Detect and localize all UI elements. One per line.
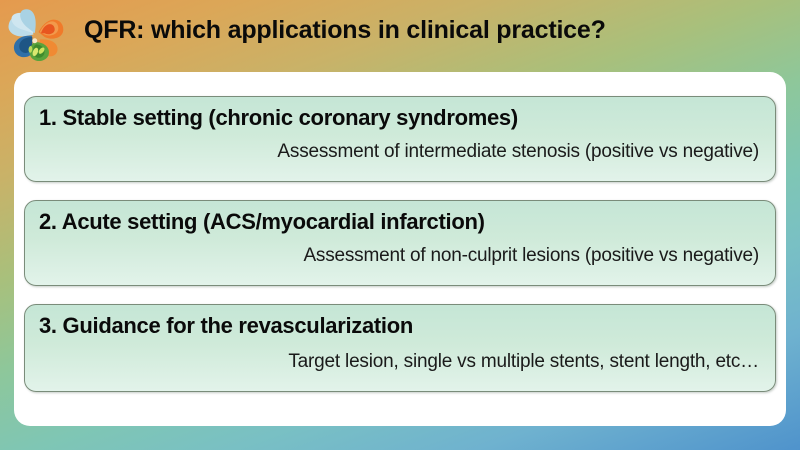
item-detail: Assessment of non-culprit lesions (posit… — [25, 245, 759, 267]
item-detail: Target lesion, single vs multiple stents… — [25, 351, 759, 373]
item-detail: Assessment of intermediate stenosis (pos… — [25, 141, 759, 163]
content-card: 1. Stable setting (chronic coronary synd… — [14, 72, 786, 426]
item-heading: 1. Stable setting (chronic coronary synd… — [39, 105, 518, 131]
spiral-nautilus-logo-icon — [5, 6, 67, 68]
slide-header: QFR: which applications in clinical prac… — [0, 0, 800, 72]
item-heading: 3. Guidance for the revascularization — [39, 313, 413, 339]
list-item[interactable]: 1. Stable setting (chronic coronary synd… — [24, 96, 776, 182]
list-item[interactable]: 3. Guidance for the revascularization Ta… — [24, 304, 776, 392]
item-heading: 2. Acute setting (ACS/myocardial infarct… — [39, 209, 485, 235]
list-item[interactable]: 2. Acute setting (ACS/myocardial infarct… — [24, 200, 776, 286]
slide-canvas: QFR: which applications in clinical prac… — [0, 0, 800, 450]
page-title: QFR: which applications in clinical prac… — [84, 16, 784, 45]
